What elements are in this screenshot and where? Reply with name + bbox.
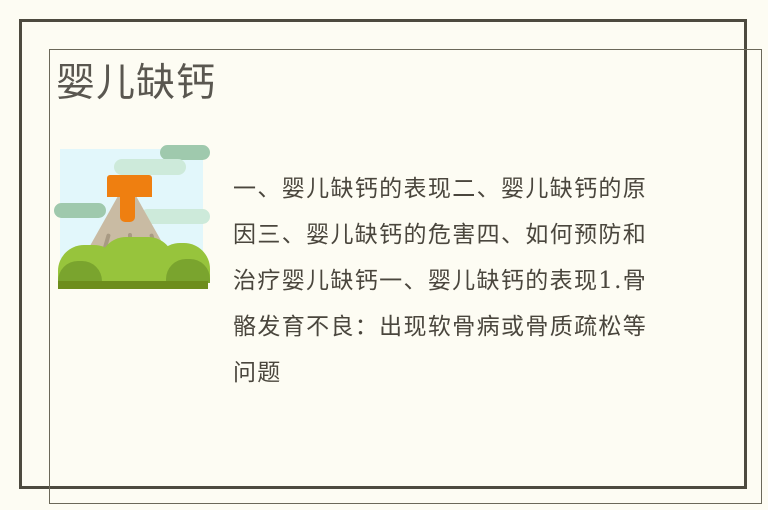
volcano-illustration xyxy=(54,145,210,293)
article-body: 一、婴儿缺钙的表现二、婴儿缺钙的原因三、婴儿缺钙的危害四、如何预防和治疗婴儿缺钙… xyxy=(233,166,647,396)
cloud-icon xyxy=(114,159,186,175)
page-title: 婴儿缺钙 xyxy=(56,60,216,108)
lava-drip xyxy=(120,189,135,222)
cloud-icon xyxy=(160,145,210,160)
ground-strip xyxy=(58,281,208,289)
article-page: 婴儿缺钙 一、婴儿缺钙的表现二、婴儿缺钙的原因三、婴儿缺钙的危害四、如何预防和治… xyxy=(0,0,768,510)
